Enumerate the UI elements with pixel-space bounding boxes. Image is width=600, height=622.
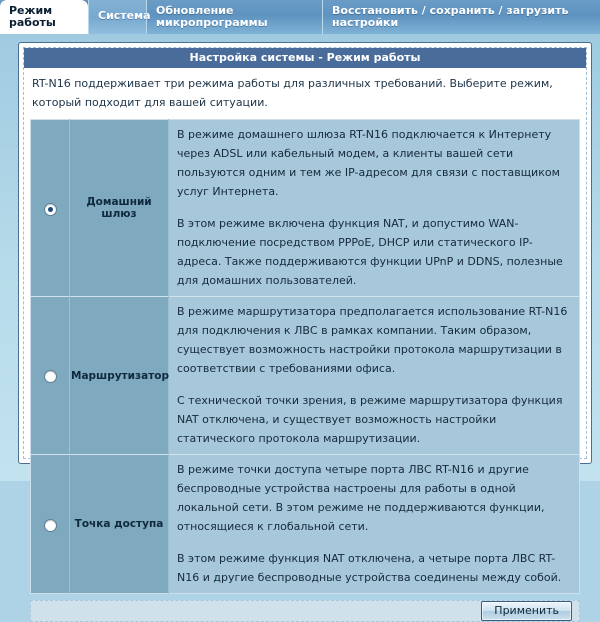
radio-unselected-icon[interactable]: [44, 370, 57, 383]
tab-restore-save-upload-settings[interactable]: Восстановить / сохранить / загрузить нас…: [322, 0, 600, 34]
apply-button[interactable]: Применить: [481, 601, 572, 621]
mode-paragraph: В этом режиме функция NAT отключена, а ч…: [177, 549, 570, 587]
mode-label-access-point: Точка доступа: [70, 455, 169, 594]
operation-modes-table: Домашний шлюз В режиме домашнего шлюза R…: [30, 119, 580, 594]
tab-bar: Режим работы Система Обновление микропро…: [0, 0, 600, 34]
mode-radio-cell-router[interactable]: [31, 297, 70, 455]
mode-radio-cell-access-point[interactable]: [31, 455, 70, 594]
mode-paragraph: С технической точки зрения, в режиме мар…: [177, 391, 570, 448]
tab-firmware-upgrade[interactable]: Обновление микропрограммы: [146, 0, 322, 34]
mode-description-router: В режиме маршрутизатора предполагается и…: [169, 297, 580, 455]
mode-paragraph: В этом режиме включена функция NAT, и до…: [177, 214, 570, 290]
tab-operation-mode[interactable]: Режим работы: [0, 0, 88, 34]
router-admin-page: Режим работы Система Обновление микропро…: [0, 0, 600, 481]
mode-paragraph: В режиме домашнего шлюза RT-N16 подключа…: [177, 125, 570, 201]
content-panel: Настройка системы - Режим работы RT-N16 …: [18, 42, 592, 464]
mode-description-home-gateway: В режиме домашнего шлюза RT-N16 подключа…: [169, 120, 580, 297]
mode-label-router: Маршрутизатор: [70, 297, 169, 455]
section-title: Настройка системы - Режим работы: [24, 48, 586, 68]
table-row[interactable]: Домашний шлюз В режиме домашнего шлюза R…: [31, 120, 580, 297]
mode-radio-cell-home-gateway[interactable]: [31, 120, 70, 297]
radio-selected-icon[interactable]: [44, 203, 57, 216]
mode-label-home-gateway: Домашний шлюз: [70, 120, 169, 297]
intro-text: RT-N16 поддерживает три режима работы дл…: [24, 68, 586, 119]
table-row[interactable]: Маршрутизатор В режиме маршрутизатора пр…: [31, 297, 580, 455]
radio-unselected-icon[interactable]: [44, 519, 57, 532]
mode-paragraph: В режиме точки доступа четыре порта ЛВС …: [177, 460, 570, 536]
mode-paragraph: В режиме маршрутизатора предполагается и…: [177, 302, 570, 378]
content-panel-inner: Настройка системы - Режим работы RT-N16 …: [23, 47, 587, 459]
form-footer: Применить: [30, 600, 580, 622]
table-row[interactable]: Точка доступа В режиме точки доступа чет…: [31, 455, 580, 594]
mode-description-access-point: В режиме точки доступа четыре порта ЛВС …: [169, 455, 580, 594]
tab-system[interactable]: Система: [88, 0, 146, 34]
